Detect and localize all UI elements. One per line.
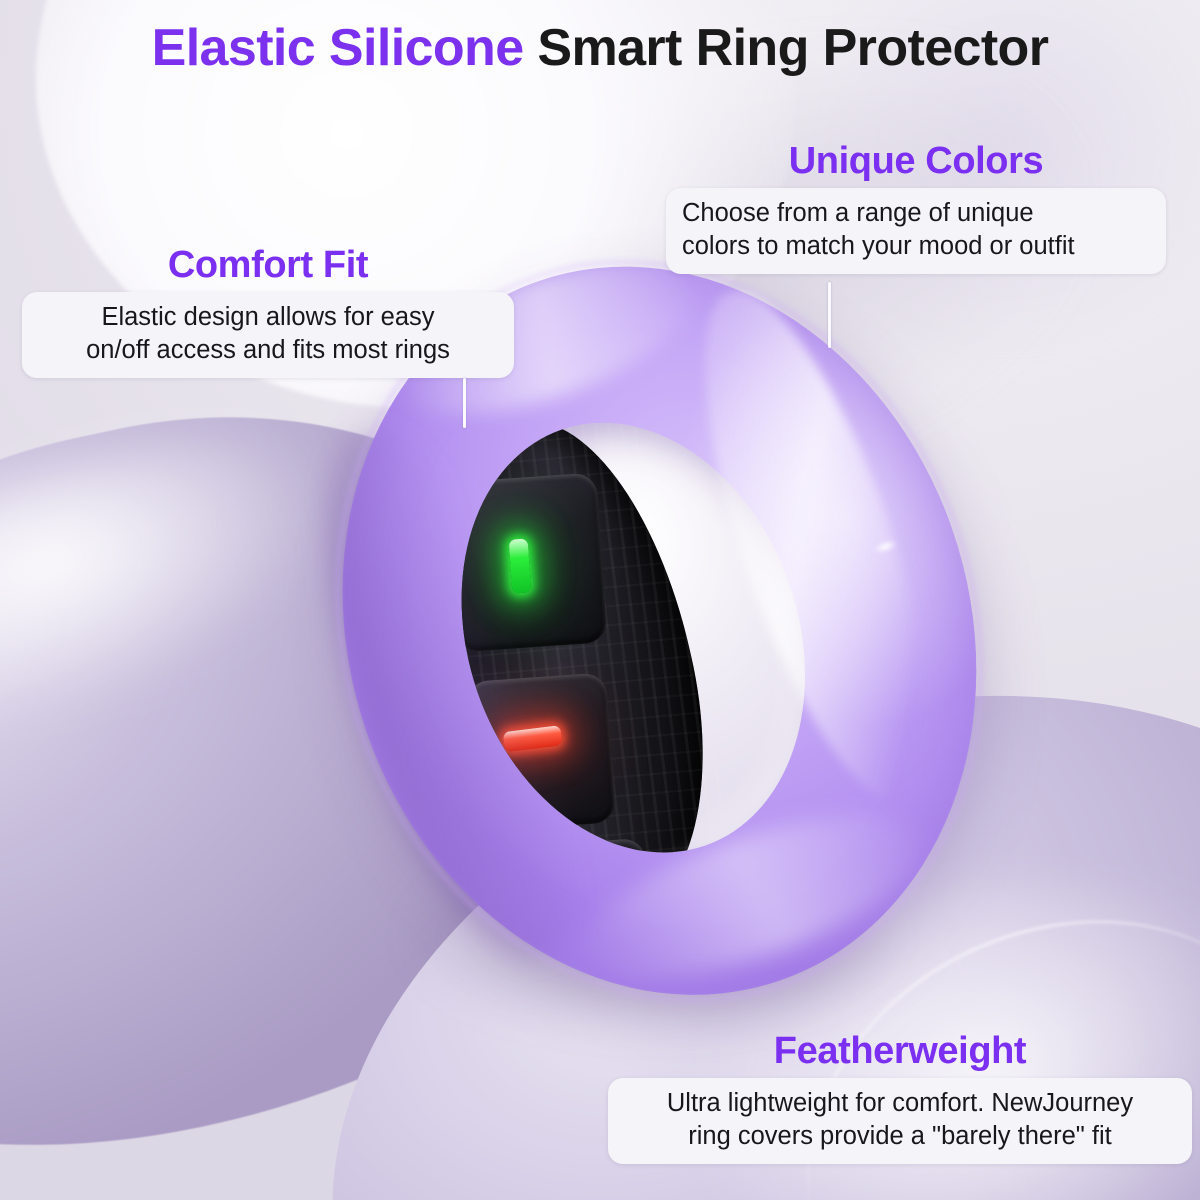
callout-body-line: Choose from a range of unique	[682, 197, 1150, 230]
callout-heading-featherweight: Featherweight	[608, 1032, 1192, 1072]
leader-line-comfort-fit	[463, 378, 466, 428]
page-title-rest: Smart Ring Protector	[524, 19, 1049, 77]
callout-body-line: ring covers provide a "barely there" fit	[624, 1120, 1176, 1153]
callout-unique-colors: Unique Colors Choose from a range of uni…	[666, 142, 1166, 274]
callout-featherweight: Featherweight Ultra lightweight for comf…	[608, 1032, 1192, 1164]
callout-body-line: Elastic design allows for easy	[38, 301, 498, 334]
leader-line-unique-colors	[828, 282, 831, 348]
callout-body-featherweight: Ultra lightweight for comfort. NewJourne…	[608, 1078, 1192, 1164]
callout-body-comfort-fit: Elastic design allows for easy on/off ac…	[22, 292, 514, 378]
annotation-overlay: Elastic Silicone Smart Ring Protector Co…	[0, 0, 1200, 1200]
callout-heading-unique-colors: Unique Colors	[666, 142, 1166, 182]
callout-body-line: Ultra lightweight for comfort. NewJourne…	[624, 1087, 1176, 1120]
callout-body-unique-colors: Choose from a range of unique colors to …	[666, 188, 1166, 274]
callout-heading-comfort-fit: Comfort Fit	[22, 246, 514, 286]
page-title-accent: Elastic Silicone	[152, 19, 524, 77]
callout-comfort-fit: Comfort Fit Elastic design allows for ea…	[22, 246, 514, 378]
callout-body-line: colors to match your mood or outfit	[682, 230, 1150, 263]
callout-body-line: on/off access and fits most rings	[38, 334, 498, 367]
page-title: Elastic Silicone Smart Ring Protector	[0, 18, 1200, 78]
